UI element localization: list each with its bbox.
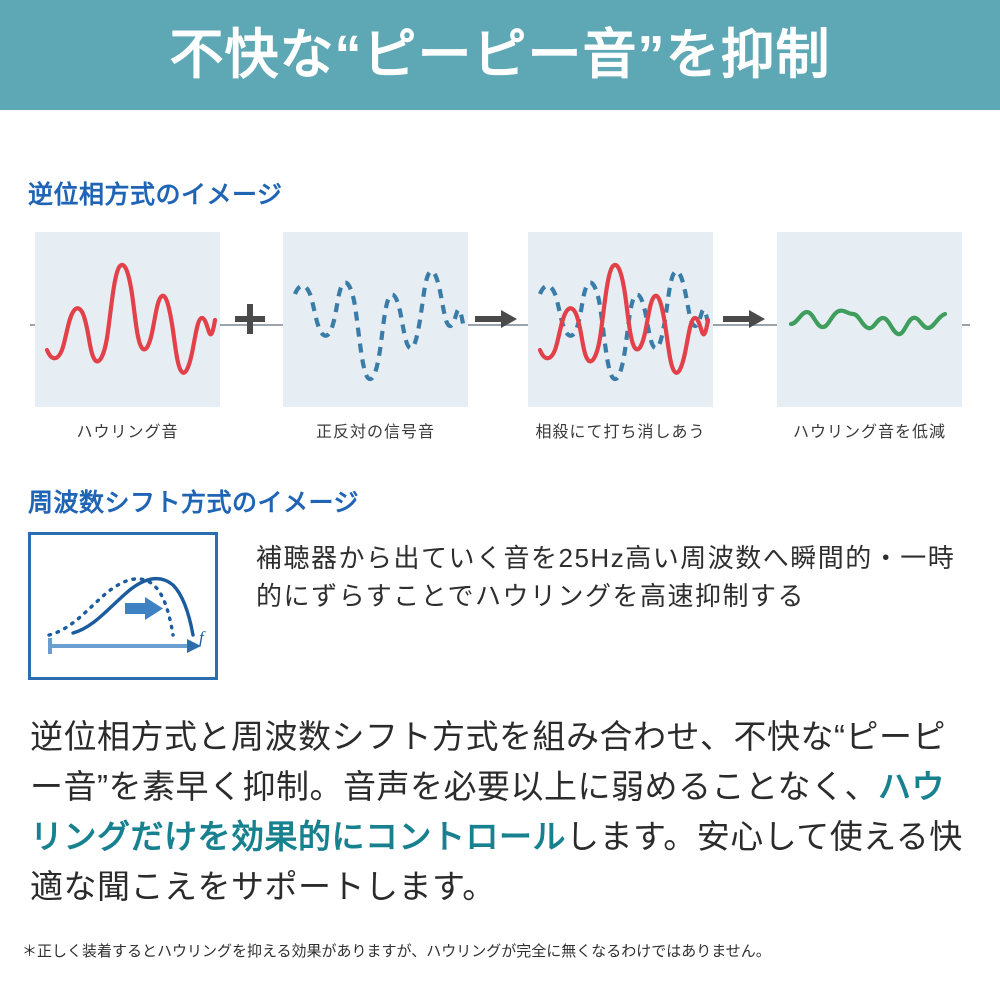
section-heading-frequency-shift: 周波数シフト方式のイメージ — [28, 483, 359, 519]
banner-title: 不快な“ピーピー音”を抑制 — [170, 28, 831, 82]
panel-caption: ハウリング音を低減 — [762, 418, 977, 442]
infographic-page: 不快な“ピーピー音”を抑制 逆位相方式のイメージ — [0, 0, 1000, 1000]
waveform-panel-cancellation — [528, 232, 713, 407]
frequency-shift-block: f 補聴器から出ていく音を25Hz高い周波数へ瞬間的・一時的にずらすことでハウリ… — [28, 532, 972, 687]
frequency-axis — [48, 638, 201, 654]
frequency-shift-description: 補聴器から出ていく音を25Hz高い周波数へ瞬間的・一時的にずらすことでハウリング… — [256, 540, 972, 615]
section-heading-antiphase: 逆位相方式のイメージ — [28, 175, 283, 211]
shift-arrow-icon — [125, 597, 163, 620]
antiphase-diagram: ハウリング音 正反対の信号音 相殺にて打ち消しあう ハウリング音を低減 — [0, 232, 1000, 442]
frequency-shift-diagram: f — [28, 532, 218, 680]
arrow-right-icon — [466, 294, 526, 344]
panel-caption: ハウリング音 — [20, 418, 235, 442]
footnote: ＊正しく装着するとハウリングを抑える効果がありますが、ハウリングが完全に無くなる… — [22, 940, 982, 961]
waveform-panel-inverted-signal — [283, 232, 468, 407]
plus-icon — [220, 294, 280, 344]
waveform-panel-howling — [35, 232, 220, 407]
frequency-axis-label: f — [199, 628, 206, 647]
red-howling-waveform — [47, 265, 215, 373]
main-paragraph: 逆位相方式と周波数シフト方式を組み合わせ、不快な“ピーピー音”を素早く抑制。音声… — [30, 712, 975, 913]
waveform-panel-reduced — [777, 232, 962, 407]
header-banner: 不快な“ピーピー音”を抑制 — [0, 0, 1000, 110]
arrow-right-icon — [714, 294, 774, 344]
blue-inverted-waveform — [295, 271, 463, 379]
main-paragraph-part1: 逆位相方式と周波数シフト方式を組み合わせ、不快な“ピーピー音”を素早く抑制。音声… — [30, 718, 946, 805]
panel-caption: 相殺にて打ち消しあう — [513, 418, 728, 442]
green-reduced-waveform — [791, 311, 945, 335]
panel-caption: 正反対の信号音 — [268, 418, 483, 442]
